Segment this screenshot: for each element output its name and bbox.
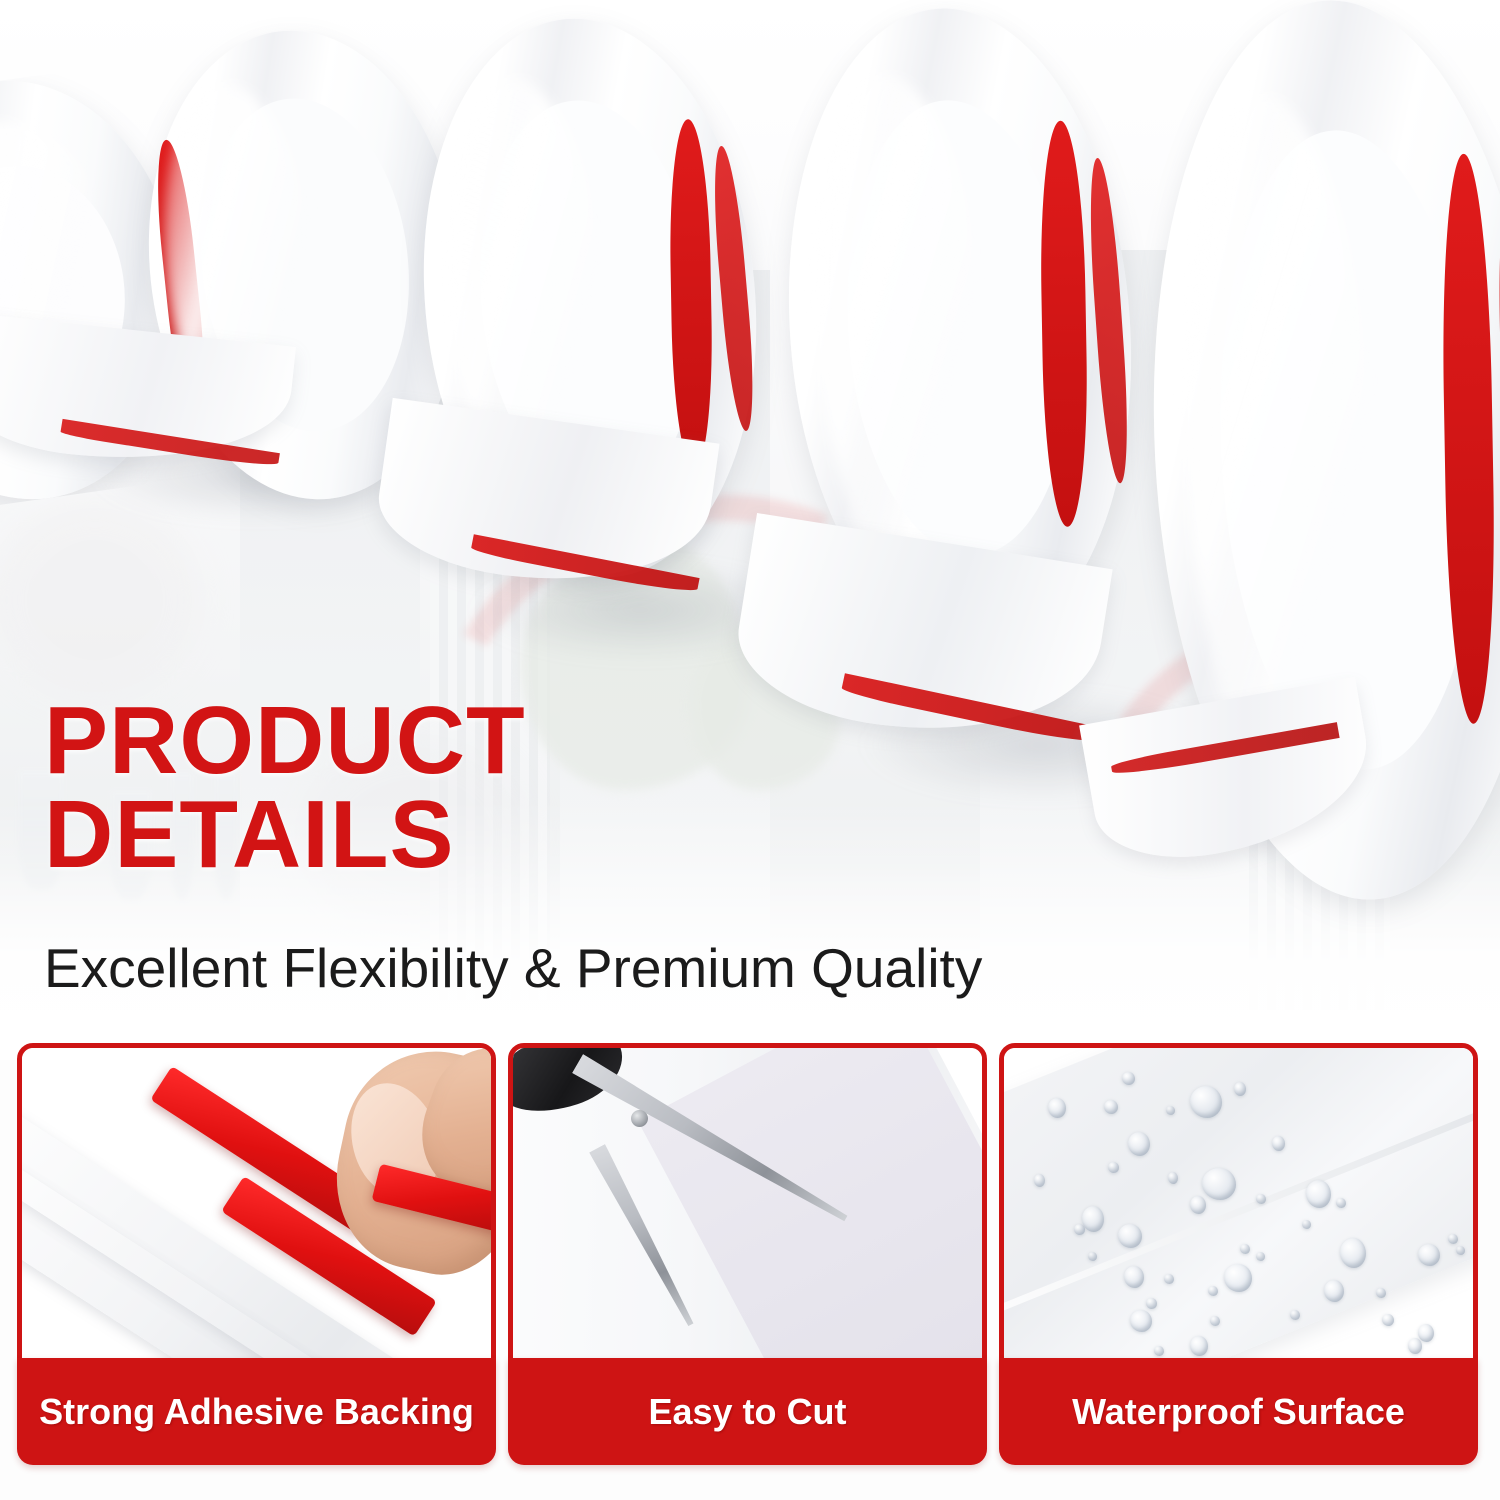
product-details-infographic: PRODUCT DETAILS Excellent Flexibility & …	[0, 0, 1500, 1500]
water-droplet	[1340, 1238, 1366, 1268]
water-droplet	[1210, 1316, 1220, 1326]
water-droplet	[1306, 1180, 1331, 1208]
page-title-line-1: PRODUCT	[44, 687, 526, 794]
feature-caption-cut: Easy to Cut	[508, 1358, 987, 1465]
water-droplet	[1208, 1286, 1218, 1296]
water-droplet	[1376, 1288, 1386, 1298]
water-droplet	[1418, 1324, 1434, 1342]
water-droplet	[1302, 1220, 1311, 1229]
water-droplet	[1272, 1136, 1285, 1151]
water-droplet	[1154, 1346, 1164, 1356]
water-droplet	[1104, 1100, 1118, 1114]
water-droplet	[1118, 1224, 1142, 1248]
water-droplet	[1034, 1174, 1045, 1187]
water-droplet	[1108, 1162, 1119, 1173]
water-droplet	[1088, 1252, 1097, 1261]
feature-panel-row: Strong Adhesive Backing Easy to Cut	[0, 1036, 1500, 1500]
feature-caption-waterproof: Waterproof Surface	[999, 1358, 1478, 1465]
water-droplet	[1240, 1244, 1250, 1254]
scissors-pivot-screw	[631, 1110, 648, 1127]
feature-caption-adhesive: Strong Adhesive Backing	[17, 1358, 496, 1465]
page-title: PRODUCT DETAILS	[44, 694, 824, 882]
water-droplet	[1164, 1274, 1174, 1284]
water-droplet	[1456, 1246, 1465, 1255]
water-droplet	[1256, 1194, 1266, 1204]
water-droplet	[1234, 1082, 1246, 1096]
water-droplet	[1190, 1086, 1222, 1118]
water-droplet	[1224, 1264, 1252, 1292]
water-droplet	[1082, 1206, 1104, 1232]
page-title-line-2: DETAILS	[44, 788, 824, 882]
water-droplet	[1324, 1280, 1344, 1302]
water-droplet	[1190, 1196, 1206, 1214]
water-droplet	[1190, 1336, 1208, 1356]
water-droplet	[1074, 1224, 1085, 1235]
water-droplet	[1382, 1314, 1394, 1326]
water-droplet	[1128, 1132, 1150, 1156]
water-droplet	[1336, 1198, 1346, 1208]
water-droplet	[1166, 1106, 1175, 1115]
water-droplet	[1122, 1072, 1135, 1085]
water-droplet	[1130, 1310, 1152, 1332]
water-droplet	[1408, 1338, 1422, 1354]
water-droplet	[1168, 1172, 1178, 1184]
water-droplet	[1146, 1298, 1157, 1309]
water-droplet	[1124, 1266, 1144, 1288]
water-droplet	[1048, 1098, 1066, 1118]
water-droplet	[1202, 1168, 1236, 1200]
water-droplet	[1256, 1252, 1265, 1261]
water-droplet	[1448, 1234, 1458, 1244]
page-subtitle: Excellent Flexibility & Premium Quality	[44, 938, 1344, 1000]
water-droplet	[1290, 1310, 1300, 1320]
water-droplet	[1418, 1244, 1440, 1266]
